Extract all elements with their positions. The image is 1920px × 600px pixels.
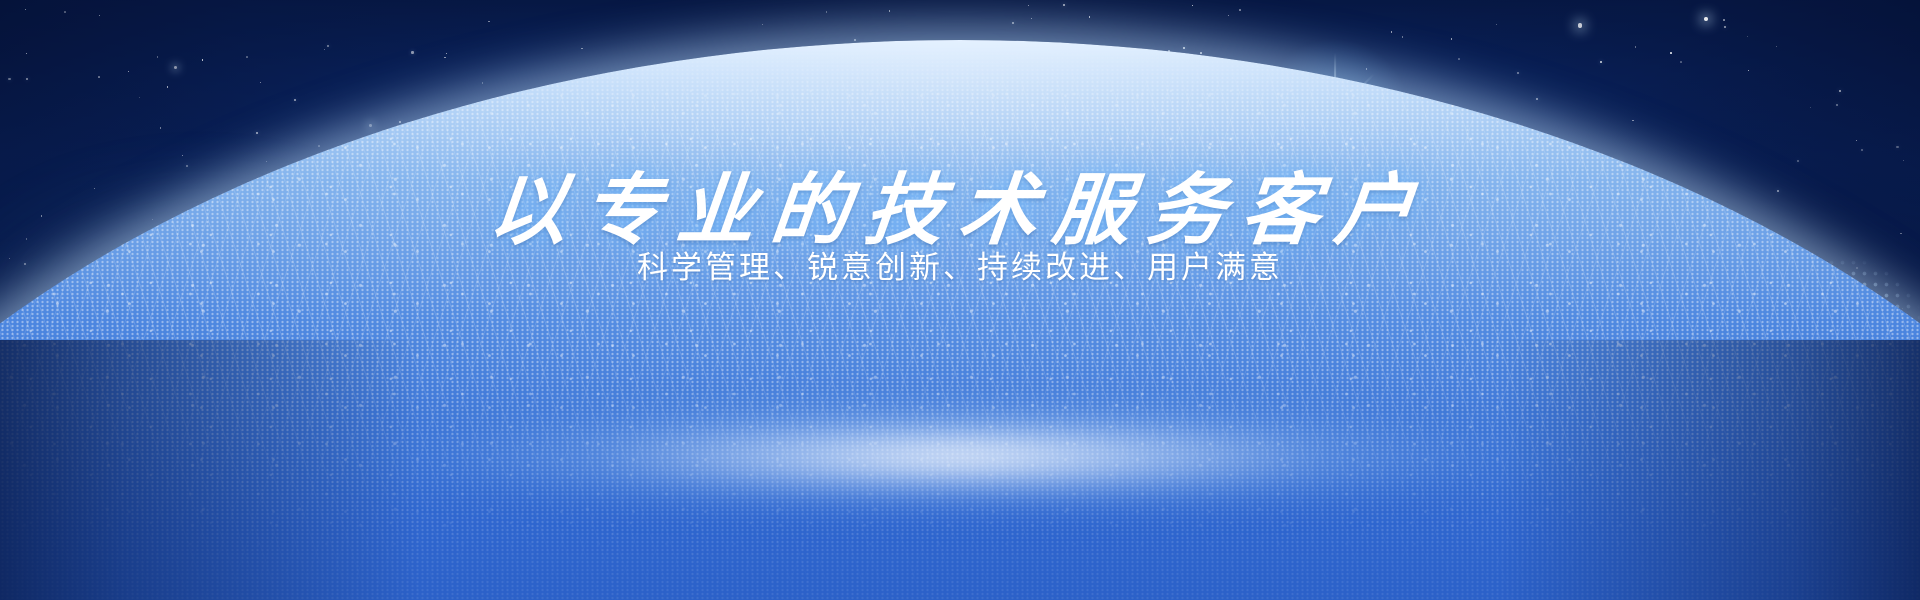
earth-horizon-cityscape bbox=[0, 40, 1920, 600]
hero-banner: 以专业的技术服务客户 科学管理、锐意创新、持续改进、用户满意 bbox=[0, 0, 1920, 600]
city-highlights bbox=[0, 40, 1920, 600]
